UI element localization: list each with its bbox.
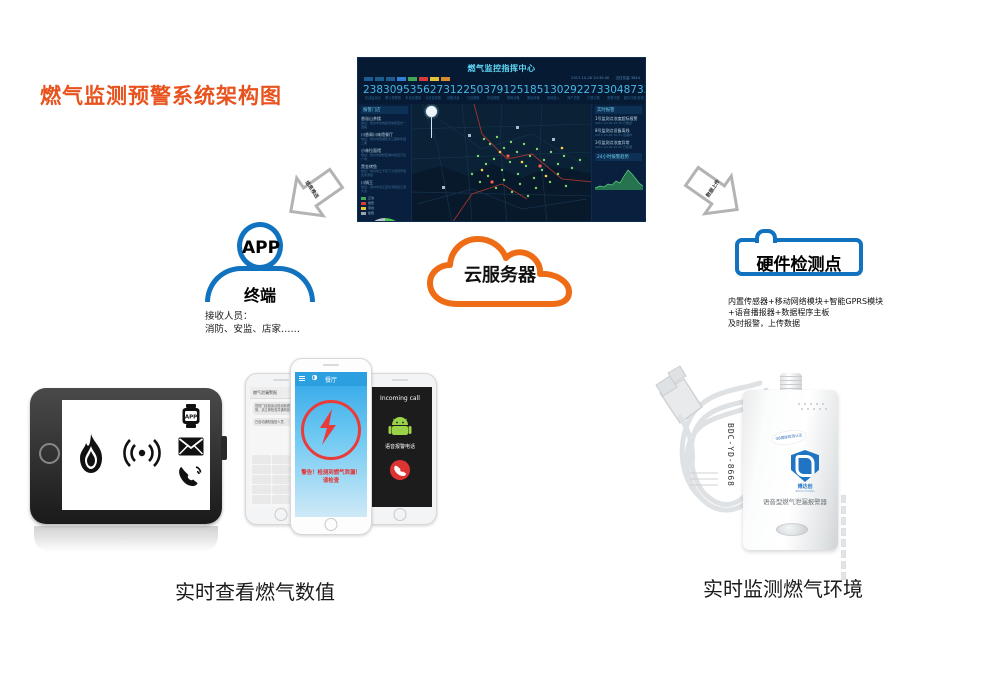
stat-item: 379 待处理数	[483, 85, 503, 101]
dashboard-title: 燃气监控指挥中心	[358, 63, 645, 74]
signal-wave-icon	[121, 436, 163, 474]
notification-channel-icons: APP	[178, 404, 204, 491]
receiver-title: 接收人员：	[205, 310, 300, 323]
realtime-alarm-row[interactable]: 3号监测点浓度异常 2017-10-26 10:22 已处理	[595, 140, 642, 149]
stat-value: 33	[637, 85, 646, 96]
legend-entry: 正常	[361, 196, 408, 200]
alarm-store-row[interactable]: 香溢山茶楼 地址：杭州市余杭区仓前街道文一西路	[361, 116, 408, 129]
warning-line-1: 警告！检测到燃气泄漏！	[295, 469, 367, 477]
stat-label: 报警次数	[604, 96, 624, 101]
stat-value: 250	[463, 85, 483, 96]
stat-value: 535	[403, 85, 423, 96]
realtime-alarm-row[interactable]: 1号监测点浓度超标报警 2017-10-26 10:35 已推送	[595, 116, 642, 125]
device-product-name: 语音型燃气泄漏报警器	[755, 497, 835, 506]
terminal-label: 终端	[210, 282, 310, 306]
stat-value: 304	[604, 85, 624, 96]
stat-label: 本月处理量	[403, 96, 423, 101]
alert-app-phone-mockup: 餐厅 警告！检测到燃气泄漏！ 请检查	[290, 358, 372, 535]
store-address: 地址：杭州市西湖区文三路软件园二期	[361, 137, 408, 145]
app-terminal-node: APP 终端	[205, 222, 315, 302]
call-phone-mockup: Incoming call 语音报警电话	[363, 373, 437, 525]
stat-label: 离线设备	[523, 96, 543, 101]
incoming-call-label: Incoming call	[368, 395, 432, 402]
device-status-legend: 正常 报警 离线 故障	[361, 196, 408, 215]
device-side-vents	[841, 495, 847, 583]
smartwatch-app-icon: APP	[180, 404, 202, 432]
stat-item: 130 新增接入	[543, 85, 563, 101]
phone-reflection	[34, 526, 218, 552]
city-map[interactable]	[412, 104, 591, 221]
alarm-store-row[interactable]: 小林拉面馆 地址：杭州市拱墅区湖州街道万达广场	[361, 148, 408, 161]
legend-entry: 离线	[361, 206, 408, 210]
dashboard-meta-total: 当日总量 3844	[615, 76, 640, 81]
stat-label: 商户总数	[563, 96, 583, 101]
store-address: 地址：杭州市江干区下沙经济开发区学源街	[361, 169, 408, 177]
stat-label: 待处理数	[483, 96, 503, 101]
stat-label: 在线监测点	[363, 96, 383, 101]
stat-value: 185	[523, 85, 543, 96]
hardware-desc-line-3: 及时报警，上传数据	[728, 318, 978, 329]
app-head-circle: APP	[237, 222, 283, 270]
stat-label: 维修工单	[637, 96, 646, 101]
stat-label: 已登记数	[584, 96, 604, 101]
hardware-callout-tail	[755, 229, 777, 243]
phone-screen: APP	[62, 400, 210, 510]
stat-item: 273 已登记数	[584, 85, 604, 101]
receiver-list: 消防、安监、店家……	[205, 323, 300, 336]
stat-item: 33 维修工单	[637, 85, 646, 101]
home-button[interactable]	[39, 443, 60, 464]
stat-item: 250 已处置数	[463, 85, 483, 101]
dashboard-stats-row: 238 在线监测点 309 累计报警数 535 本月处理量 627 今日巡检数 …	[363, 85, 640, 101]
stat-label: 已处置数	[463, 96, 483, 101]
stat-value: 238	[363, 85, 383, 96]
caption-right: 实时监测燃气环境	[703, 573, 863, 602]
stat-item: 535 本月处理量	[403, 85, 423, 101]
phone-ring-icon	[178, 465, 204, 491]
stat-label: 累计报警数	[383, 96, 403, 101]
brand-name-en: BODACHUANG	[788, 490, 822, 493]
legend-label: 故障	[368, 211, 374, 215]
envelope-icon	[178, 437, 204, 460]
dashboard-realtime-alarm-panel: 实时报警 1号监测点浓度超标报警 2017-10-26 10:35 已推送 8号…	[591, 104, 645, 221]
dashboard-meta-time: 2017-10-26 10:35:40	[571, 76, 609, 81]
stat-label: 新增接入	[543, 96, 563, 101]
stat-label: 故障设备	[503, 96, 523, 101]
home-button[interactable]	[275, 508, 288, 521]
hardware-desc-line-2: +语音播报器+数据程序主板	[728, 307, 978, 318]
hardware-desc-line-1: 内置传感器+移动网络模块+智能GPRS模块	[728, 296, 978, 307]
dashboard-legend-swatches	[364, 77, 450, 81]
home-button[interactable]	[325, 518, 338, 531]
legend-label: 正常	[368, 196, 374, 200]
alarm-store-row[interactable]: 川香阁川味馆餐厅 地址：杭州市西湖区文三路软件园二期	[361, 132, 408, 145]
warning-message: 警告！检测到燃气泄漏！ 请检查	[295, 469, 367, 485]
page-title: 燃气监测预警系统架构图	[40, 80, 282, 110]
caption-left: 实时查看燃气数值	[175, 576, 335, 605]
alarm-meta: 2017-10-26 10:22 已处理	[595, 145, 642, 149]
alarm-meta: 2017-10-26 10:35 已推送	[595, 121, 642, 125]
stat-item: 304 报警次数	[604, 85, 624, 101]
device-status-pie-chart	[365, 218, 405, 222]
stat-item: 185 离线设备	[523, 85, 543, 101]
stat-value: 627	[423, 85, 443, 96]
stat-item: 309 累计报警数	[383, 85, 403, 101]
arrow-left-push: 信息推送	[283, 165, 345, 219]
hardware-description: 内置传感器+移动网络模块+智能GPRS模块 +语音播报器+数据程序主板 及时报警…	[728, 296, 978, 329]
menu-icon[interactable]	[299, 376, 305, 381]
panel-header: 实时报警	[595, 106, 642, 114]
stat-label: 设备总量	[443, 96, 463, 101]
panel-header: 报警门店	[361, 106, 408, 114]
dashboard-meta: 2017-10-26 10:35:40 当日总量 3844	[571, 76, 640, 81]
app-receiver-description: 接收人员： 消防、安监、店家……	[205, 310, 300, 336]
home-button[interactable]	[394, 508, 407, 521]
stat-item: 312 设备总量	[443, 85, 463, 101]
stat-value: 312	[443, 85, 463, 96]
stat-value: 309	[383, 85, 403, 96]
cloud-server-label: 云服务器	[425, 261, 575, 287]
black-phone-mockup: APP	[30, 388, 235, 533]
cloud-server-node: 云服务器	[425, 232, 575, 310]
map-marker-stem	[431, 116, 432, 138]
trend-chart-title: 24小时报警趋势	[595, 153, 642, 161]
realtime-alarm-row[interactable]: 8号监测点设备离线 2017-10-26 10:31 处理中	[595, 128, 642, 137]
side-button[interactable]	[221, 436, 227, 460]
stat-item: 292 商户总数	[563, 85, 583, 101]
warning-line-2: 请检查	[295, 477, 367, 485]
shield-icon	[791, 450, 819, 482]
phone-speaker	[392, 379, 408, 381]
store-address: 地址：杭州市余杭区仓前街道文一西路	[361, 121, 408, 129]
stat-label: 今日巡检数	[423, 96, 443, 101]
flame-icon	[76, 434, 106, 478]
phone-screen: Incoming call 语音报警电话	[368, 387, 432, 507]
hardware-callout-box: 硬件检测点	[735, 238, 863, 276]
monitoring-dashboard-screen: 燃气监控指挥中心 2017-10-26 10:35:40 当日总量 3844 2…	[357, 57, 646, 222]
stat-item: 87 超标次数	[624, 85, 637, 101]
arrow-right-upload: 数据上传	[683, 163, 745, 217]
device-test-button[interactable]	[776, 523, 808, 536]
svg-text:APP: APP	[185, 415, 197, 421]
app-title: 餐厅	[325, 375, 337, 384]
gas-detector-device: BDC-YD-8668 GB国标检测认证 博达创 BODACHUANG 语音型燃…	[650, 345, 890, 560]
legend-label: 报警	[368, 201, 374, 205]
stat-label: 超标次数	[624, 96, 637, 101]
stat-value: 87	[624, 85, 637, 96]
alarm-store-row[interactable]: 川锅王 地址：杭州市滨江区长河街道江南大道	[361, 180, 408, 193]
gas-leak-warning-icon	[301, 400, 361, 460]
phone-speaker	[323, 364, 339, 366]
stat-item: 627 今日巡检数	[423, 85, 443, 101]
legend-label: 离线	[368, 206, 374, 210]
alarm-trend-sparkline	[595, 164, 642, 190]
stat-item: 238 在线监测点	[363, 85, 383, 101]
hardware-label: 硬件检测点	[739, 250, 859, 275]
stat-item: 125 故障设备	[503, 85, 523, 101]
store-address: 地址：杭州市拱墅区湖州街道万达广场	[361, 153, 408, 161]
alarm-store-row[interactable]: 黑金烤鱼 地址：杭州市江干区下沙经济开发区学源街	[361, 164, 408, 177]
location-pin-icon	[312, 375, 317, 384]
phone-body: APP	[30, 388, 222, 524]
app-status-bar: 餐厅	[295, 372, 367, 386]
device-speaker-holes	[798, 403, 828, 415]
stat-value: 379	[483, 85, 503, 96]
end-call-button[interactable]	[390, 460, 410, 480]
device-model-number: BDC-YD-8668	[726, 423, 735, 487]
dashboard-alarm-store-panel: 报警门店 香溢山茶楼 地址：杭州市余杭区仓前街道文一西路 川香阁川味馆餐厅 地址…	[358, 104, 412, 221]
device-brand-logo: 博达创 BODACHUANG	[788, 450, 822, 493]
stat-value: 292	[563, 85, 583, 96]
call-subtitle: 语音报警电话	[368, 443, 432, 450]
alarm-meta: 2017-10-26 10:31 处理中	[595, 133, 642, 137]
stat-value: 130	[543, 85, 563, 96]
legend-entry: 故障	[361, 211, 408, 215]
legend-entry: 报警	[361, 201, 408, 205]
phone-screen: 餐厅 警告！检测到燃气泄漏！ 请检查	[295, 372, 367, 517]
brand-name: 博达创	[788, 483, 822, 490]
android-robot-icon	[388, 416, 412, 440]
app-label: APP	[242, 238, 278, 258]
stat-value: 125	[503, 85, 523, 96]
phone-group-mockup: 燃气泄漏警报 您的门店检测点检测到燃气浓度异常，请立即检查并通风处理。 已自动通…	[245, 358, 435, 538]
phone-speaker	[273, 379, 289, 381]
hardware-detection-node: 硬件检测点	[735, 238, 863, 282]
store-address: 地址：杭州市滨江区长河街道江南大道	[361, 185, 408, 193]
stat-value: 273	[584, 85, 604, 96]
app-body-shape: 终端	[205, 266, 315, 302]
